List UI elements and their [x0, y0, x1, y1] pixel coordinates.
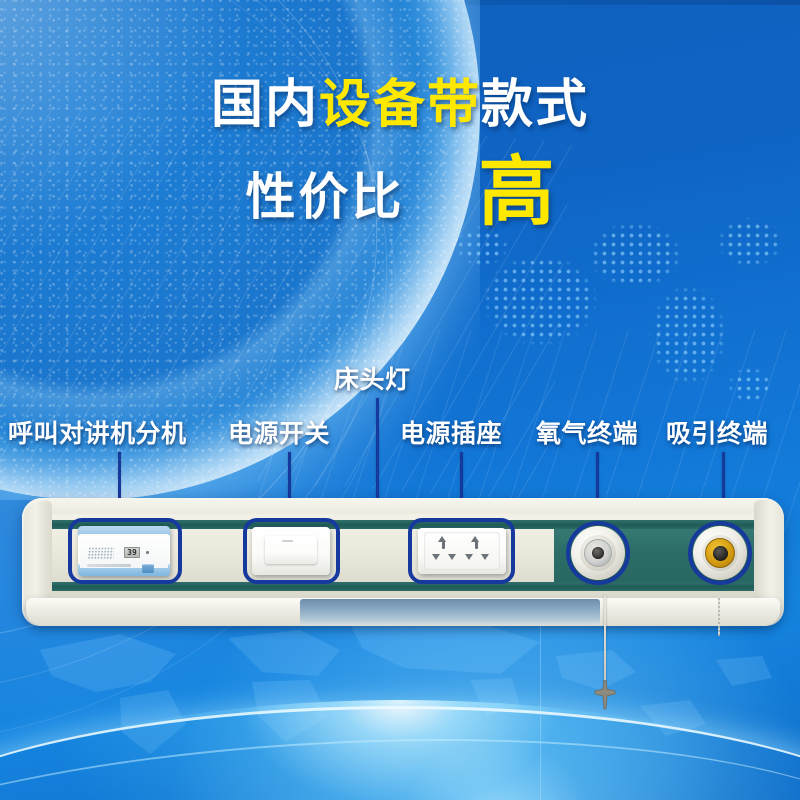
socket-earth-left-icon: [438, 536, 446, 542]
callout-label-oxygen: 氧气终端: [536, 414, 638, 450]
power-switch-unit[interactable]: [252, 527, 330, 575]
panel-top-lip: [22, 498, 784, 514]
oxygen-terminal-port-icon[interactable]: [592, 547, 604, 559]
suction-drain-tube: [718, 596, 720, 636]
intercom-unit[interactable]: 39: [78, 526, 170, 576]
panel-stripe-bottom: [48, 582, 764, 591]
pull-cord-hook-icon[interactable]: [588, 680, 622, 710]
status-led-icon: [146, 551, 149, 554]
panel-rail-reflection: [300, 599, 600, 625]
power-switch-mark-icon: [282, 540, 293, 542]
power-socket-unit[interactable]: [418, 528, 506, 574]
intercom-display: 39: [124, 547, 140, 558]
socket-slot-rb: [481, 554, 489, 560]
pull-cord[interactable]: [604, 596, 606, 686]
socket-earth-right-icon: [471, 536, 479, 542]
callout-label-power-switch: 电源开关: [228, 414, 330, 450]
banner-stage: 国内设备带款式 性价比高 呼叫对讲机分机 电源开关 床头灯 电源插座 氧气终端 …: [0, 0, 800, 800]
oxygen-terminal-unit[interactable]: [571, 526, 625, 580]
intercom-call-button[interactable]: [142, 564, 154, 573]
suction-terminal-unit[interactable]: [693, 526, 747, 580]
power-socket-plate: [424, 532, 500, 570]
socket-slot-ra: [465, 554, 473, 560]
intercom-slot: [87, 564, 131, 567]
socket-slot-lb: [448, 554, 456, 560]
socket-slot-la: [432, 554, 440, 560]
callout-label-suction: 吸引终端: [666, 414, 768, 450]
socket-pin-left-a: [442, 541, 445, 549]
intercom-faceplate: 39: [80, 534, 168, 568]
socket-pin-right-a: [475, 541, 478, 549]
suction-terminal-port-icon[interactable]: [713, 546, 728, 561]
callout-layer: 呼叫对讲机分机 电源开关 床头灯 电源插座 氧气终端 吸引终端: [0, 0, 800, 800]
speaker-grille-icon: [87, 547, 114, 559]
callout-label-intercom: 呼叫对讲机分机: [8, 414, 187, 450]
callout-label-bed-lamp: 床头灯: [334, 360, 411, 396]
callout-label-power-socket: 电源插座: [400, 414, 502, 450]
